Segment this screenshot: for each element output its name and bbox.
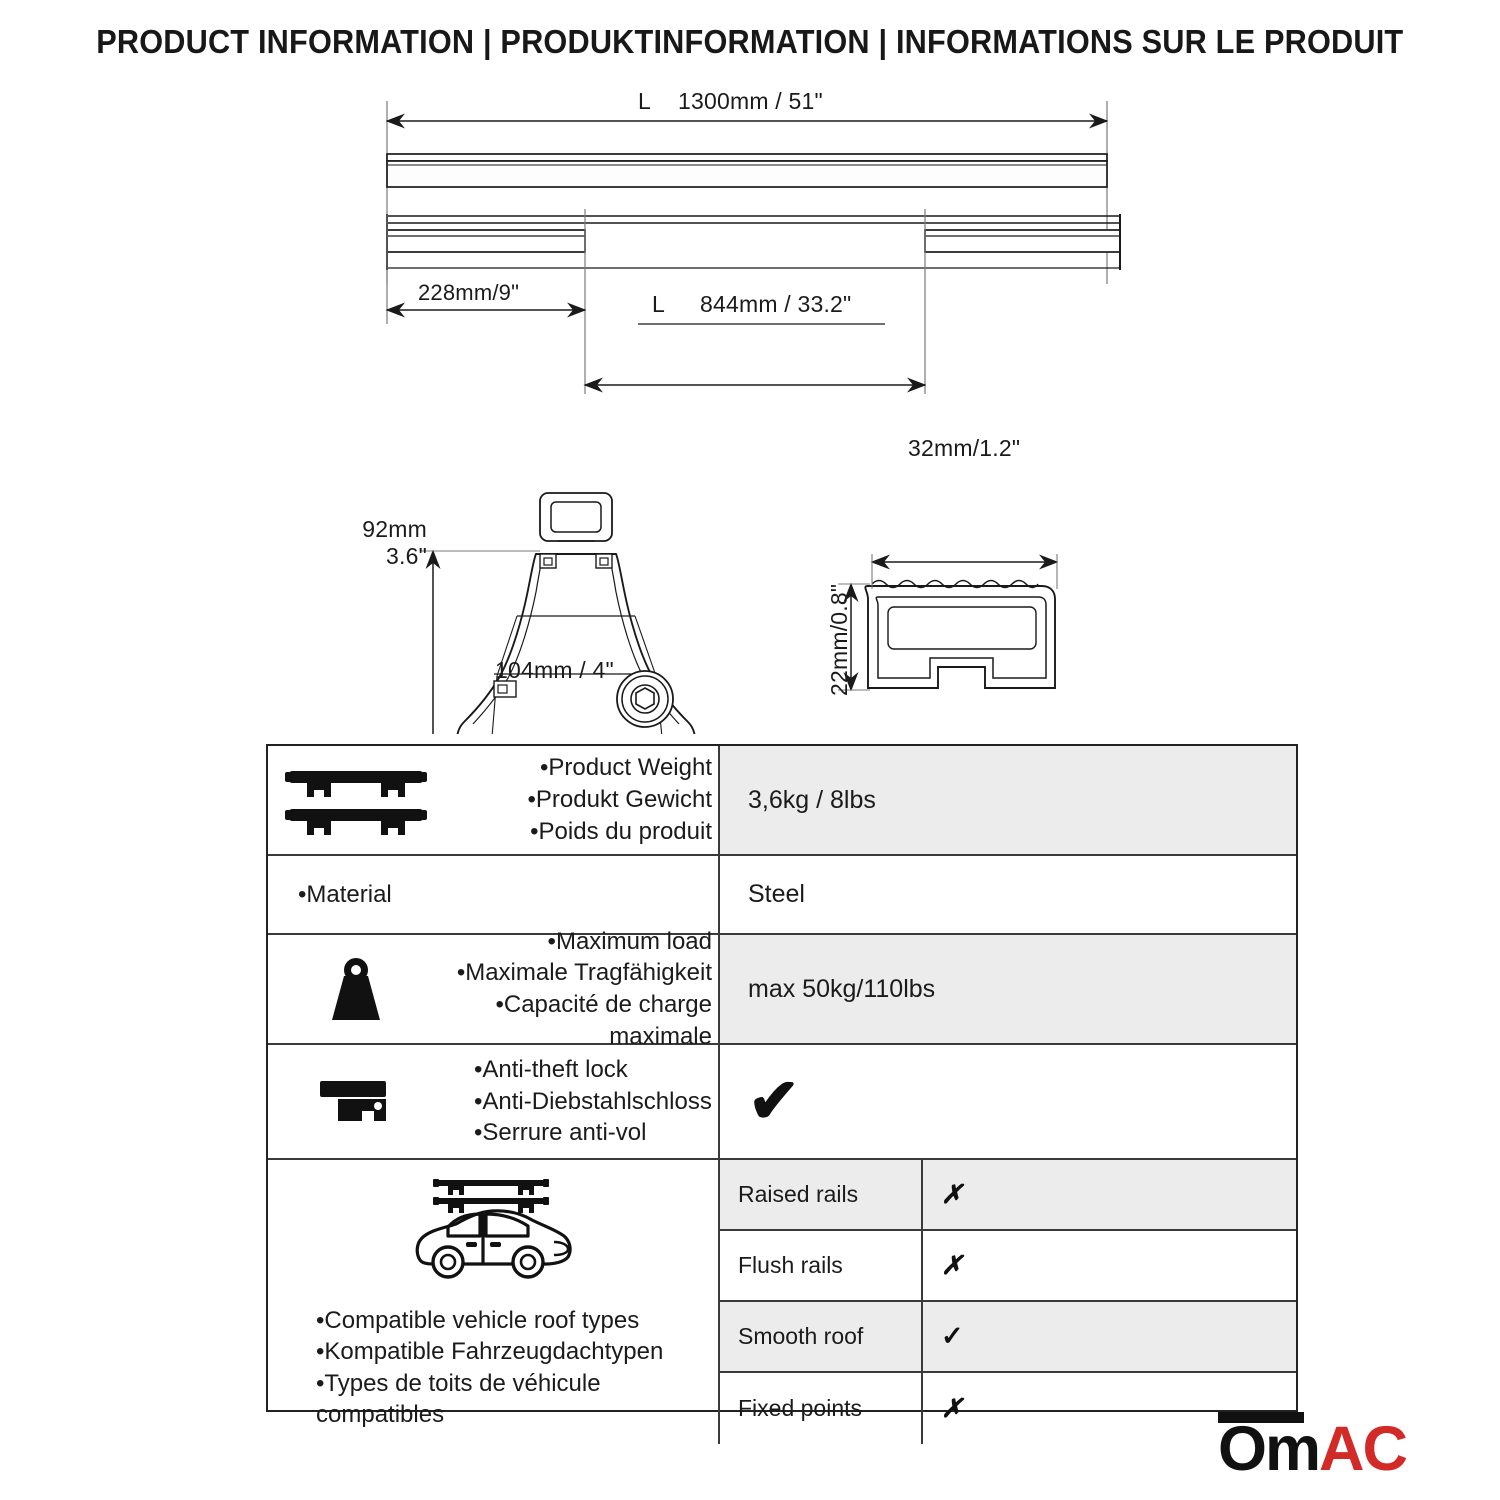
- spec-label-line: •Product Weight: [540, 752, 712, 784]
- roof-type-mark: ✗: [923, 1231, 1296, 1300]
- roof-type-name: Flush rails: [720, 1231, 923, 1300]
- roof-type-name: Smooth roof: [720, 1302, 923, 1371]
- roof-type-flush-rails: Flush rails ✗: [720, 1231, 1296, 1302]
- foot-width-dim: 104mm / 4": [495, 657, 614, 684]
- roof-types-label-line: •Types de toits de véhicule: [316, 1368, 663, 1399]
- spec-label-cell: •Material: [268, 856, 720, 933]
- table-row-roof-types: •Compatible vehicle roof types •Kompatib…: [268, 1160, 1296, 1444]
- cross-icon: ✗: [941, 1393, 963, 1424]
- bar-length-value: 1300mm / 51": [678, 88, 823, 115]
- table-row: •Product Weight •Produkt Gewicht •Poids …: [268, 746, 1296, 856]
- check-icon: ✓: [941, 1321, 964, 1352]
- roof-type-raised-rails: Raised rails ✗: [720, 1160, 1296, 1231]
- spec-value-anti-theft-lock: ✔: [720, 1045, 1296, 1158]
- end-offset-dim: 228mm/9": [418, 280, 519, 306]
- spec-label-cell: •Anti-theft lock •Anti-Diebstahlschloss …: [268, 1045, 720, 1158]
- page-title: PRODUCT INFORMATION | PRODUKTINFORMATION…: [96, 23, 1403, 61]
- roof-types-label-line: •Kompatible Fahrzeugdachtypen: [316, 1336, 663, 1367]
- table-row: •Material Steel: [268, 856, 1296, 935]
- product-information-page: PRODUCT INFORMATION | PRODUKTINFORMATION…: [0, 0, 1500, 1500]
- profile-height-dim: 22mm/0.8": [826, 584, 853, 696]
- technical-drawing-area: L 1300mm / 51" 228mm/9" L 844mm / 33.2" …: [0, 84, 1500, 734]
- span-value: 844mm / 33.2": [700, 291, 851, 318]
- spec-label-line: •Material: [298, 879, 392, 911]
- roof-types-list: Raised rails ✗ Flush rails ✗ Smooth roof…: [720, 1160, 1296, 1444]
- logo-text: OmAC: [1218, 1418, 1406, 1481]
- spec-value-material: Steel: [720, 856, 1296, 933]
- roof-types-label-cell: •Compatible vehicle roof types •Kompatib…: [268, 1160, 720, 1444]
- spec-label-line: •Maximum load: [548, 926, 712, 958]
- roof-type-name: Raised rails: [720, 1160, 923, 1229]
- logo-text-om: Om: [1218, 1414, 1319, 1484]
- spec-label-line: •Capacité de charge maximale: [444, 989, 712, 1052]
- spec-label-line: •Serrure anti-vol: [474, 1117, 646, 1149]
- crossbar-pair-icon: [268, 763, 444, 837]
- spec-label-line: •Produkt Gewicht: [528, 784, 712, 816]
- spec-label-line: •Anti-theft lock: [474, 1054, 628, 1086]
- spec-label-lines: •Material: [268, 879, 712, 911]
- page-title-bar: PRODUCT INFORMATION | PRODUKTINFORMATION…: [0, 0, 1500, 84]
- spec-label-line: •Anti-Diebstahlschloss: [474, 1086, 712, 1118]
- spec-value-maximum-load: max 50kg/110lbs: [720, 935, 1296, 1043]
- span-prefix: L: [652, 291, 665, 318]
- roof-type-mark: ✓: [923, 1302, 1296, 1371]
- spec-label-lines: •Product Weight •Produkt Gewicht •Poids …: [444, 752, 712, 847]
- weight-icon: [268, 954, 444, 1024]
- foot-height-line2: 3.6": [343, 543, 427, 570]
- table-row: •Maximum load •Maximale Tragfähigkeit •C…: [268, 935, 1296, 1045]
- roof-type-smooth-roof: Smooth roof ✓: [720, 1302, 1296, 1373]
- specification-table: •Product Weight •Produkt Gewicht •Poids …: [266, 744, 1298, 1412]
- roof-types-label-line: •Compatible vehicle roof types: [316, 1305, 663, 1336]
- omac-logo: OmAC: [1218, 1412, 1476, 1484]
- table-row: •Anti-theft lock •Anti-Diebstahlschloss …: [268, 1045, 1296, 1160]
- roof-types-label-line: compatibles: [316, 1399, 663, 1430]
- roof-type-mark: ✗: [923, 1160, 1296, 1229]
- foot-height-line1: 92mm: [343, 516, 427, 543]
- spec-label-line: •Maximale Tragfähigkeit: [457, 957, 712, 989]
- spec-label-line: •Poids du produit: [530, 816, 712, 848]
- spec-label-cell: •Product Weight •Produkt Gewicht •Poids …: [268, 746, 720, 854]
- lock-icon: [268, 1073, 444, 1129]
- spec-label-lines: •Anti-theft lock •Anti-Diebstahlschloss …: [444, 1054, 712, 1149]
- car-with-crossbars-icon: [404, 1174, 582, 1291]
- roof-type-fixed-points: Fixed points ✗: [720, 1373, 1296, 1444]
- cross-icon: ✗: [941, 1179, 963, 1210]
- technical-drawing-svg: [0, 84, 1500, 734]
- roof-type-name: Fixed points: [720, 1373, 923, 1444]
- spec-value-product-weight: 3,6kg / 8lbs: [720, 746, 1296, 854]
- check-icon: ✔: [748, 1071, 800, 1133]
- spec-label-lines: •Maximum load •Maximale Tragfähigkeit •C…: [444, 926, 712, 1053]
- spec-label-cell: •Maximum load •Maximale Tragfähigkeit •C…: [268, 935, 720, 1043]
- logo-text-ac: AC: [1319, 1414, 1406, 1484]
- profile-width-dim: 32mm/1.2": [908, 435, 1020, 462]
- roof-types-label-lines: •Compatible vehicle roof types •Kompatib…: [276, 1305, 663, 1430]
- bar-length-prefix: L: [638, 88, 651, 115]
- cross-icon: ✗: [941, 1250, 963, 1281]
